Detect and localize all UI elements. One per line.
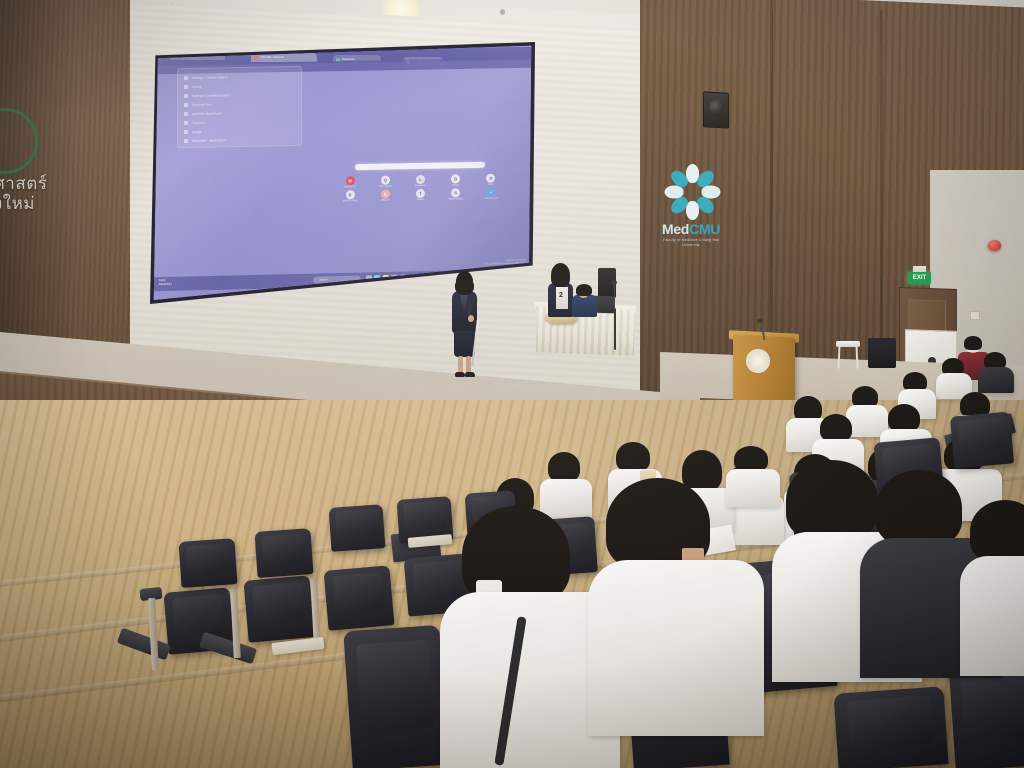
audience-hair: [820, 414, 852, 442]
menu-item-label: Settings & Learning Center: [192, 93, 229, 98]
shortcut-icon: L: [416, 175, 425, 184]
menu-item-icon: [184, 120, 188, 124]
stage-side-chair[interactable]: [868, 338, 896, 368]
menu-item-label: Personal Files: [192, 102, 212, 106]
wall-switch-plate[interactable]: [970, 311, 980, 320]
menu-item-icon: [184, 102, 188, 106]
shortcut-icon: D: [486, 174, 495, 183]
wall-seam: [880, 10, 883, 370]
shortcut-2[interactable]: LMedLibrary: [403, 175, 437, 188]
speaker-cone-icon: [709, 100, 723, 114]
shortcut-label: Drive: [488, 184, 493, 186]
assistant-shirt: [572, 295, 597, 317]
medcmu-flower-icon: [663, 164, 719, 220]
shortcut-1[interactable]: QNew Course: [368, 175, 402, 188]
audience-hair: [888, 404, 920, 432]
av-cable: [614, 308, 616, 350]
shortcut-6[interactable]: EeRecruit: [368, 189, 402, 202]
seated-assistant: [572, 284, 598, 318]
auditorium-seat[interactable]: [178, 538, 237, 588]
assistant-hair: [576, 284, 592, 296]
audience-hair: [548, 452, 580, 482]
auditorium-seat[interactable]: [343, 625, 449, 768]
alarm-beacon-icon: [988, 240, 1001, 251]
shortcut-grid: MMedCMU.th QNew Course LMedLibrary BeBoo…: [333, 173, 508, 202]
shortcut-label: MedCMU Reg: [343, 200, 358, 202]
white-stool-legs: [837, 347, 858, 369]
auditorium-seat[interactable]: [324, 565, 395, 631]
auditorium-seat[interactable]: [254, 528, 313, 578]
shortcut-icon: T: [416, 189, 425, 198]
menu-item-label: eportfolio-medcmu.th: [192, 111, 221, 116]
shortcut-label: New Course: [379, 186, 392, 188]
audience-shirt: [726, 469, 780, 507]
taskbar-search-placeholder: Search: [319, 278, 327, 281]
shortcut-label: eBook: [452, 184, 459, 186]
menu-item-icon: [184, 129, 188, 133]
presenter-shoe: [455, 372, 465, 377]
shortcut-label: eRecruit: [381, 200, 390, 202]
medcmu-subtitle: Faculty of Medicine Chiang Mai Universit…: [656, 238, 726, 248]
projection-screen[interactable]: eBooks - Home CMU MIS - Microsoft Dashbo…: [153, 45, 532, 301]
podium-microphone: [757, 319, 763, 323]
audience-hair: [970, 500, 1024, 562]
audience-shirt: [588, 560, 764, 736]
medcmu-word-med: Med: [662, 221, 689, 237]
table-microphone-stand: [614, 284, 615, 308]
menu-item-7[interactable]: Help Desk - MedCMU.th: [178, 134, 301, 145]
presenter-hand: [468, 315, 474, 322]
auditorium-seat[interactable]: [950, 411, 1014, 468]
medcmu-wordmark: MedCMU: [656, 222, 726, 237]
tab-label: CMU MIS - Microsoft: [260, 56, 284, 59]
auditorium-seat[interactable]: [833, 686, 948, 768]
menu-item-icon: [184, 93, 188, 97]
menu-item-icon: [184, 75, 188, 79]
auditorium-photo: ศาสตร์ งใหม่ MedCMU Faculty of Medicine …: [0, 0, 1024, 768]
shortcut-icon: Q: [381, 176, 390, 185]
shortcut-icon: E: [381, 190, 390, 199]
shortcut-icon: B: [451, 174, 460, 183]
shortcut-3[interactable]: BeBook: [439, 174, 473, 187]
shortcut-7[interactable]: TTeams: [403, 189, 437, 202]
handheld-microphone: [468, 305, 471, 315]
shortcut-label: MedCMU.th: [344, 186, 356, 188]
demonstrator-shirt-number: 2: [559, 292, 563, 299]
presenter-hair-side: [455, 279, 474, 295]
shortcut-5[interactable]: RMedCMU Reg: [333, 190, 367, 203]
left-wall-sign-line2: งใหม่: [0, 194, 47, 214]
left-wall-sign-line1: ศาสตร์: [0, 174, 47, 194]
menu-item-label: Help Desk - MedCMU.th: [192, 138, 226, 143]
audience-shirt: [978, 367, 1014, 393]
staff-hair: [964, 336, 982, 350]
audience-hair: [616, 442, 650, 472]
audience-shirt: [960, 556, 1024, 676]
shortcut-add[interactable]: +Add shortcut: [474, 187, 508, 200]
demonstrator-hair: [551, 263, 570, 287]
menu-item-label: google: [192, 129, 201, 133]
search-icon: ⌕: [316, 279, 317, 282]
tab-favicon: [254, 56, 258, 60]
shortcut-icon: S: [451, 188, 460, 197]
audience-hair: [876, 470, 962, 546]
medcmu-word-cmu: CMU: [689, 221, 720, 237]
menu-item-label: Thaiclinic: [192, 120, 205, 124]
brand-line2: MedCMU: [159, 282, 172, 286]
shortcut-0[interactable]: MMedCMU.th: [333, 176, 367, 189]
shortcut-label: Teams: [417, 199, 424, 201]
menu-item-icon: [184, 138, 188, 142]
desktop-brand-watermark: MED MedCMU: [159, 278, 172, 286]
exit-sign: EXIT: [908, 272, 931, 284]
left-wall-sign: ศาสตร์ งใหม่: [0, 174, 47, 214]
presenter-shoe: [465, 372, 475, 377]
university-seal-icon: [746, 349, 770, 373]
menu-item-icon: [184, 111, 188, 115]
audience-shirt: [540, 479, 592, 519]
menu-item-label: Library: [192, 84, 201, 88]
sprinkler-head: [500, 9, 505, 14]
shortcut-icon: R: [346, 190, 355, 199]
search-input[interactable]: [355, 162, 485, 170]
shortcut-8[interactable]: SMyDoc Billing: [439, 188, 473, 201]
shortcut-label: Add shortcut: [484, 198, 497, 200]
shortcut-label: MedLibrary: [415, 185, 427, 187]
auditorium-seat[interactable]: [243, 575, 314, 643]
shortcut-icon: M: [346, 176, 355, 185]
menu-item-icon: [184, 84, 188, 88]
audience-hair: [786, 460, 878, 540]
menu-item-label: Settings - Chrome Search: [192, 75, 228, 80]
auditorium-seat[interactable]: [329, 504, 386, 552]
plus-icon: +: [486, 188, 495, 197]
shortcut-label: MyDoc Billing: [449, 198, 463, 200]
table-microphone: [611, 280, 617, 285]
browser-dropdown-menu[interactable]: Settings - Chrome Search Library Setting…: [177, 66, 302, 148]
shortcut-4[interactable]: DDrive: [474, 173, 508, 186]
medcmu-logo: MedCMU Faculty of Medicine Chiang Mai Un…: [656, 164, 726, 250]
